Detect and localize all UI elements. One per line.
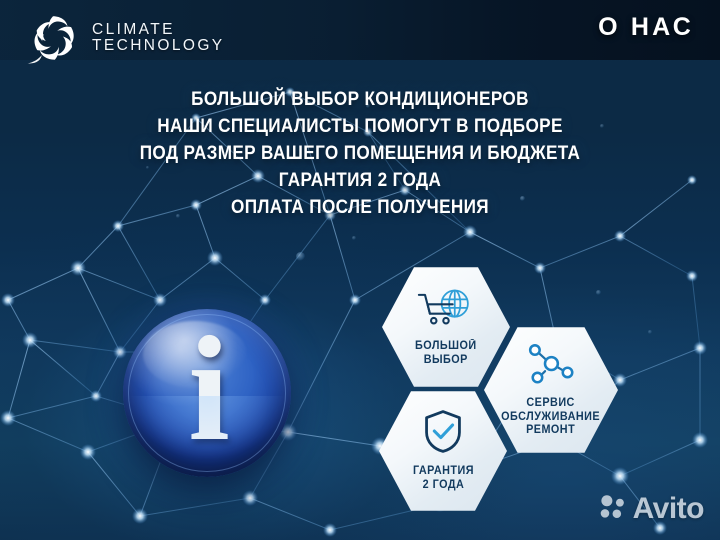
badge-label-line-1: ГАРАНТИЯ xyxy=(412,465,473,477)
promo-banner: CLIMATE TECHNOLOGY О НАС БОЛЬШОЙ ВЫБОР К… xyxy=(0,0,720,540)
brand-wordmark: CLIMATE TECHNOLOGY xyxy=(92,22,225,54)
badge-label-line-2: ВЫБОР xyxy=(424,354,468,366)
page-title: О НАС xyxy=(598,13,694,42)
information-sphere-icon: i xyxy=(123,309,291,477)
brand-line-2: TECHNOLOGY xyxy=(92,38,225,54)
headline-line-2: НАШИ СПЕЦИАЛИСТЫ ПОМОГУТ В ПОДБОРЕ xyxy=(43,113,677,140)
headline-line-1: БОЛЬШОЙ ВЫБОР КОНДИЦИОНЕРОВ xyxy=(43,86,677,113)
header-bar: CLIMATE TECHNOLOGY О НАС xyxy=(0,0,720,60)
badge-label: БОЛЬШОЙ ВЫБОР xyxy=(415,340,477,367)
headline-block: БОЛЬШОЙ ВЫБОР КОНДИЦИОНЕРОВ НАШИ СПЕЦИАЛ… xyxy=(0,86,720,221)
badge-label-line-3: РЕМОНТ xyxy=(526,424,575,436)
shopping-cart-globe-icon xyxy=(415,287,477,334)
headline-line-4: ГАРАНТИЯ 2 ГОДА xyxy=(43,167,677,194)
badge-label: ГАРАНТИЯ 2 ГОДА xyxy=(412,465,473,492)
shield-check-icon xyxy=(422,409,464,459)
network-nodes-icon xyxy=(523,342,579,391)
sphere-letter: i xyxy=(123,309,291,477)
avito-dots-icon xyxy=(600,494,626,524)
fan-spiral-icon xyxy=(24,9,82,67)
badge-label-line-2: ОБСЛУЖИВАНИЕ xyxy=(502,411,601,423)
headline-line-3: ПОД РАЗМЕР ВАШЕГО ПОМЕЩЕНИЯ И БЮДЖЕТА xyxy=(43,140,677,167)
network-background xyxy=(0,0,720,540)
avito-wordmark: Avito xyxy=(633,492,704,526)
brand-line-1: CLIMATE xyxy=(92,22,225,38)
headline-line-5: ОПЛАТА ПОСЛЕ ПОЛУЧЕНИЯ xyxy=(43,194,677,221)
badge-label-line-2: 2 ГОДА xyxy=(422,479,464,491)
badge-label: СЕРВИС ОБСЛУЖИВАНИЕ РЕМОНТ xyxy=(502,397,601,438)
brand-logo[interactable]: CLIMATE TECHNOLOGY xyxy=(24,9,225,67)
badge-label-line-1: БОЛЬШОЙ xyxy=(415,340,477,352)
badge-label-line-1: СЕРВИС xyxy=(527,397,575,409)
avito-watermark: Avito xyxy=(600,492,704,526)
